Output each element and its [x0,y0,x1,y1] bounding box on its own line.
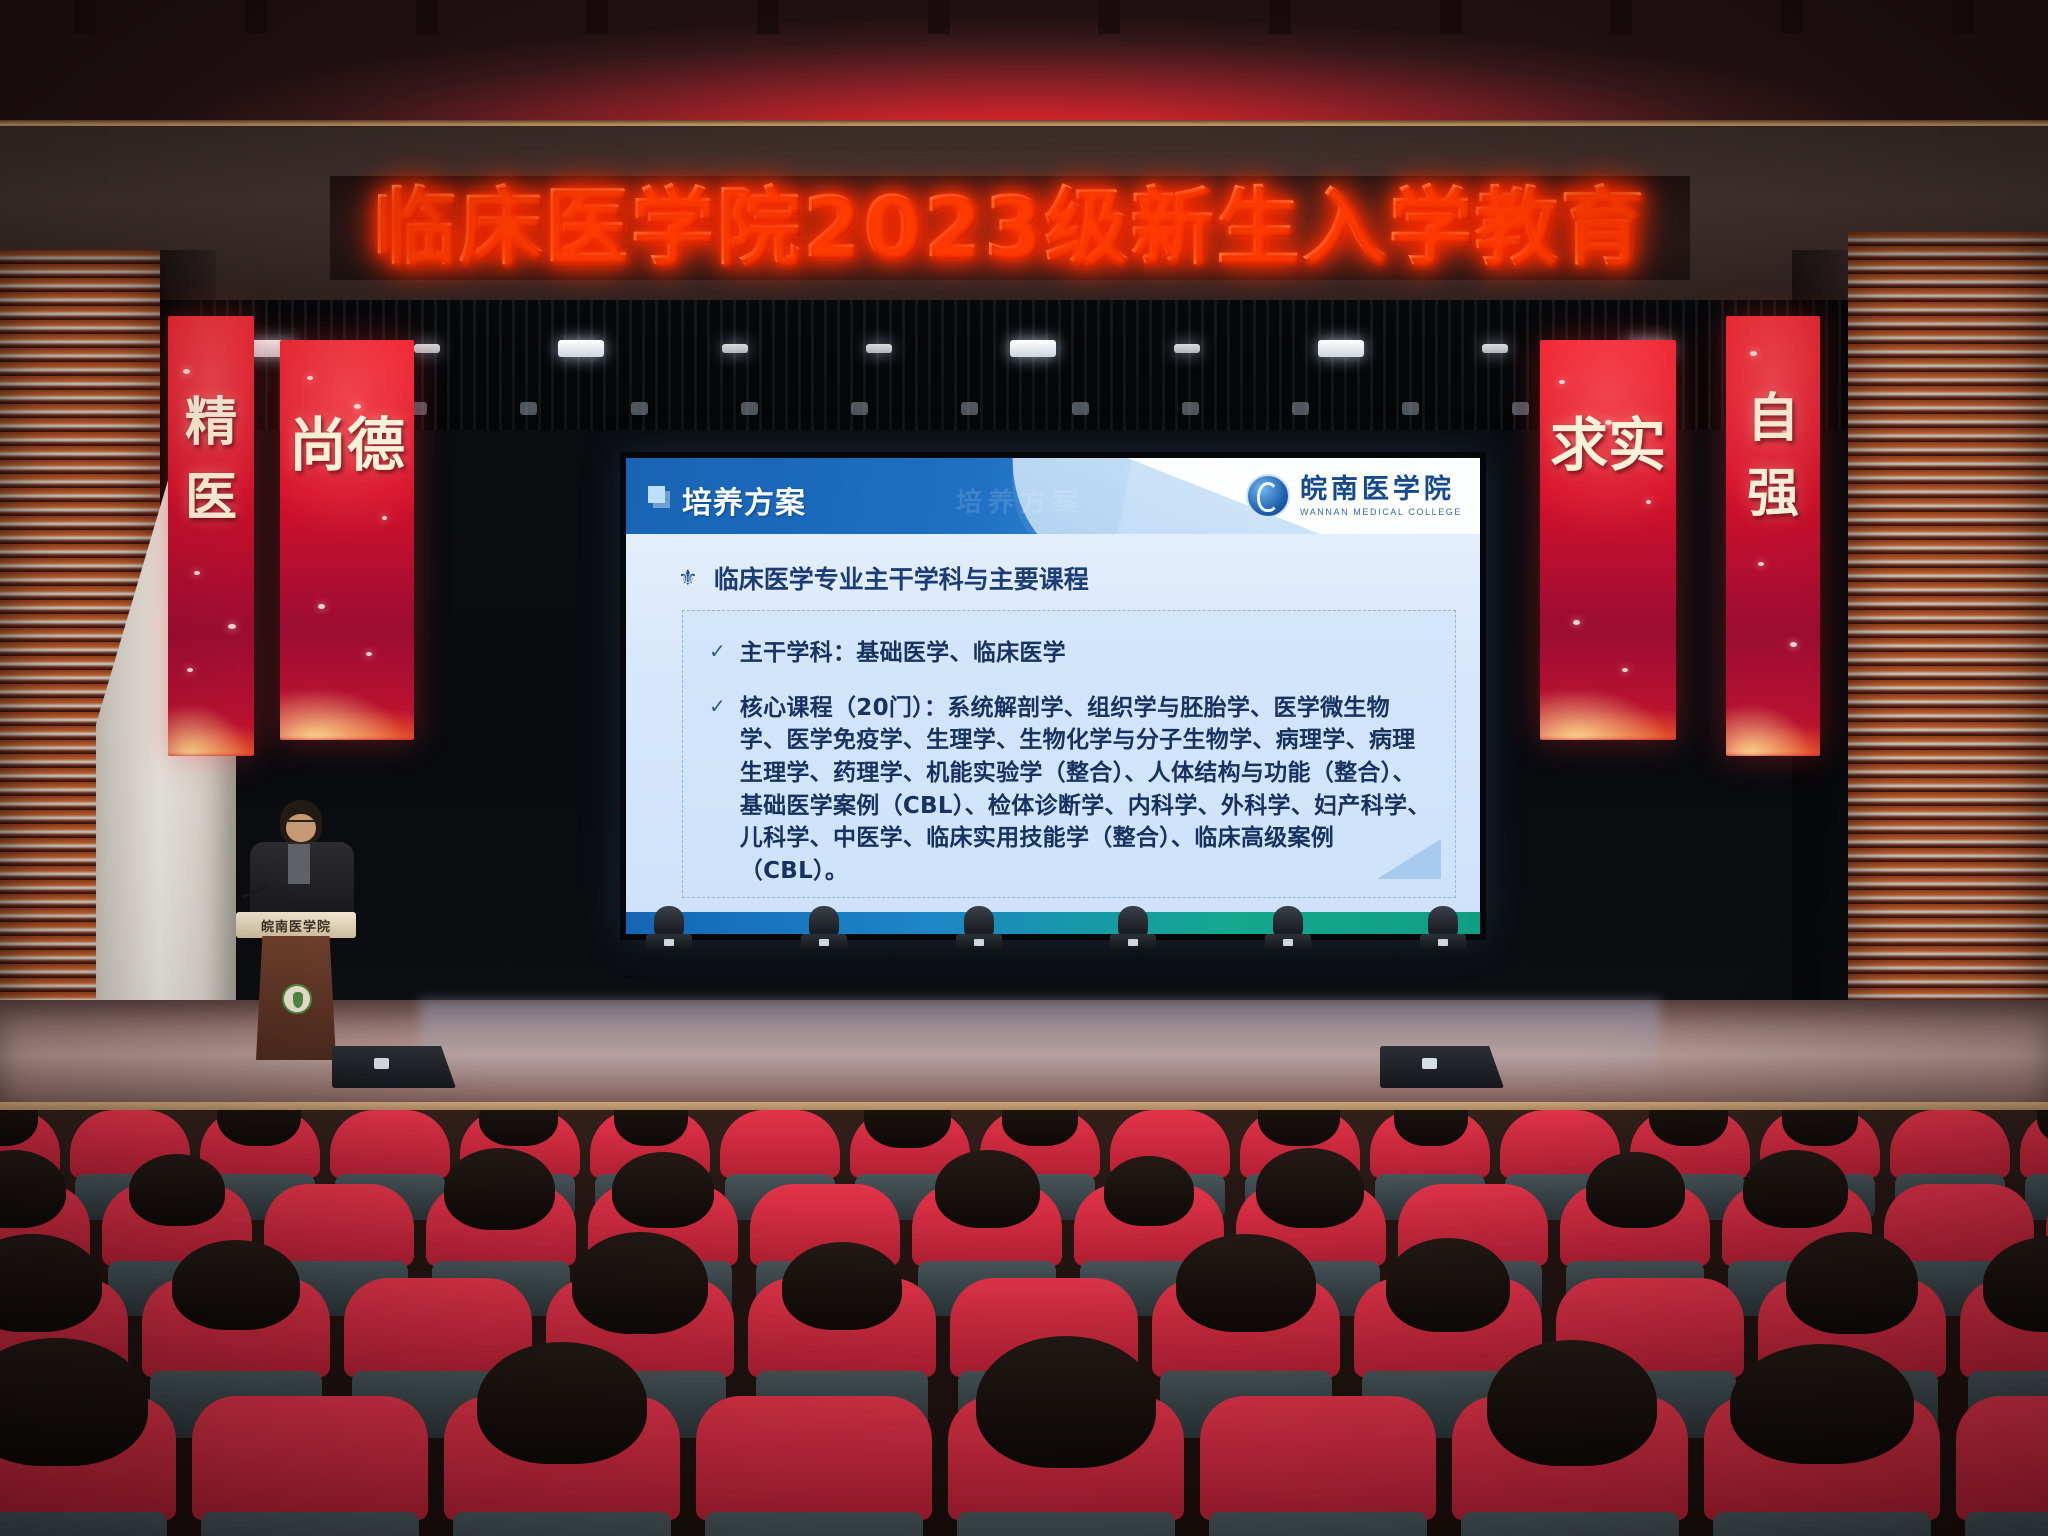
brand-name-en: WANNAN MEDICAL COLLEGE [1300,508,1462,517]
slide-subtitle: 临床医学专业主干学科与主要课程 [714,560,1089,596]
led-panel-qiushi: 求实 [1540,340,1676,740]
slide-bullet: ✓ 主干学科：基础医学、临床医学 [709,637,1433,670]
decorative-triangle [1377,839,1441,879]
glasses-icon [286,820,316,827]
auditorium-scene: 临床医学院2023级新生入学教育 精医 [0,0,2048,1536]
moving-head-light-icon [1420,906,1466,952]
panel-char-qiushi: 求实 [1540,398,1676,482]
seat [696,1396,932,1536]
stage-moving-lights [646,906,1466,952]
seat [1956,1396,2048,1536]
truss-light-icon [1174,344,1200,353]
truss-light-icon [722,344,748,353]
led-panel-jingyi: 精医 [168,316,254,756]
led-panel-ziqiang: 自强 [1726,316,1820,756]
seat [444,1396,680,1536]
person-bullet-icon: ⚜ [678,565,698,591]
truss-light-icon [866,344,892,353]
led-banner-text: 临床医学院2023级新生入学教育 [373,186,1647,270]
speaker-at-podium: 皖南医学院 [236,800,356,1068]
led-banner: 临床医学院2023级新生入学教育 [330,176,1690,280]
truss-light-icon [1010,340,1056,357]
panel-char-ziqiang: 自强 [1726,376,1820,526]
seat [1704,1396,1940,1536]
stage-monitor-speaker-left [332,1046,456,1088]
seat [1452,1396,1688,1536]
ceiling [0,0,2048,128]
moving-head-light-icon [1265,906,1311,952]
college-emblem-icon [282,984,312,1014]
stage-monitor-speaker-right [1380,1046,1504,1088]
audience-seating [0,1110,2048,1536]
led-panel-shangde: 尚德 [280,340,414,740]
check-icon: ✓ [709,692,726,888]
truss-lower-row [300,398,1750,418]
seat [1200,1396,1436,1536]
truss-light-icon [1318,340,1364,357]
panel-bottom-glow [168,636,254,756]
panel-bottom-glow [1540,620,1676,740]
brand-name-cn: 皖南医学院 [1300,476,1462,503]
brand-text: 皖南医学院 WANNAN MEDICAL COLLEGE [1300,476,1462,517]
truss-light-icon [1482,344,1508,353]
speaker-shirt [288,844,310,884]
college-brand: 皖南医学院 WANNAN MEDICAL COLLEGE [1246,474,1462,518]
seat [192,1396,428,1536]
slide-bullet-text: 核心课程（20门）：系统解剖学、组织学与胚胎学、医学微生物学、医学免疫学、生理学… [740,692,1433,888]
podium-label: 皖南医学院 [261,916,331,935]
seat-row [0,1396,2048,1536]
slide-watermark: 培养方案 [956,482,1084,519]
slide-subtitle-row: ⚜ 临床医学专业主干学科与主要课程 [678,560,1089,596]
podium-nameplate: 皖南医学院 [236,912,356,938]
panel-bottom-glow [280,620,414,740]
slide-title: 培养方案 [682,478,806,522]
seat [0,1396,176,1536]
slide-bullet-text: 主干学科：基础医学、临床医学 [740,637,1066,670]
slide-header: 培养方案 培养方案 皖南医学院 WANNAN MEDICAL COLLEGE [626,458,1480,534]
check-icon: ✓ [709,637,726,670]
moving-head-light-icon [956,906,1002,952]
wood-slat-wall-right [1848,232,2048,1102]
truss-light-icon [414,344,440,353]
panel-char-shangde: 尚德 [280,398,414,482]
seat [948,1396,1184,1536]
panel-char-jing: 精医 [168,380,254,530]
presentation-slide: 培养方案 培养方案 皖南医学院 WANNAN MEDICAL COLLEGE ⚜… [626,458,1480,934]
speaker-face [286,814,316,842]
slide-content-box: ✓ 主干学科：基础医学、临床医学 ✓ 核心课程（20门）：系统解剖学、组织学与胚… [682,610,1456,898]
college-seal-icon [1246,474,1290,518]
header-square-icon [648,486,665,503]
main-led-screen: 培养方案 培养方案 皖南医学院 WANNAN MEDICAL COLLEGE ⚜… [620,452,1486,940]
ceiling-slats [0,0,2048,34]
panel-bottom-glow [1726,636,1820,756]
moving-head-light-icon [646,906,692,952]
slide-bullet: ✓ 核心课程（20门）：系统解剖学、组织学与胚胎学、医学微生物学、医学免疫学、生… [709,692,1433,888]
truss-light-icon [558,340,604,357]
moving-head-light-icon [801,906,847,952]
moving-head-light-icon [1110,906,1156,952]
